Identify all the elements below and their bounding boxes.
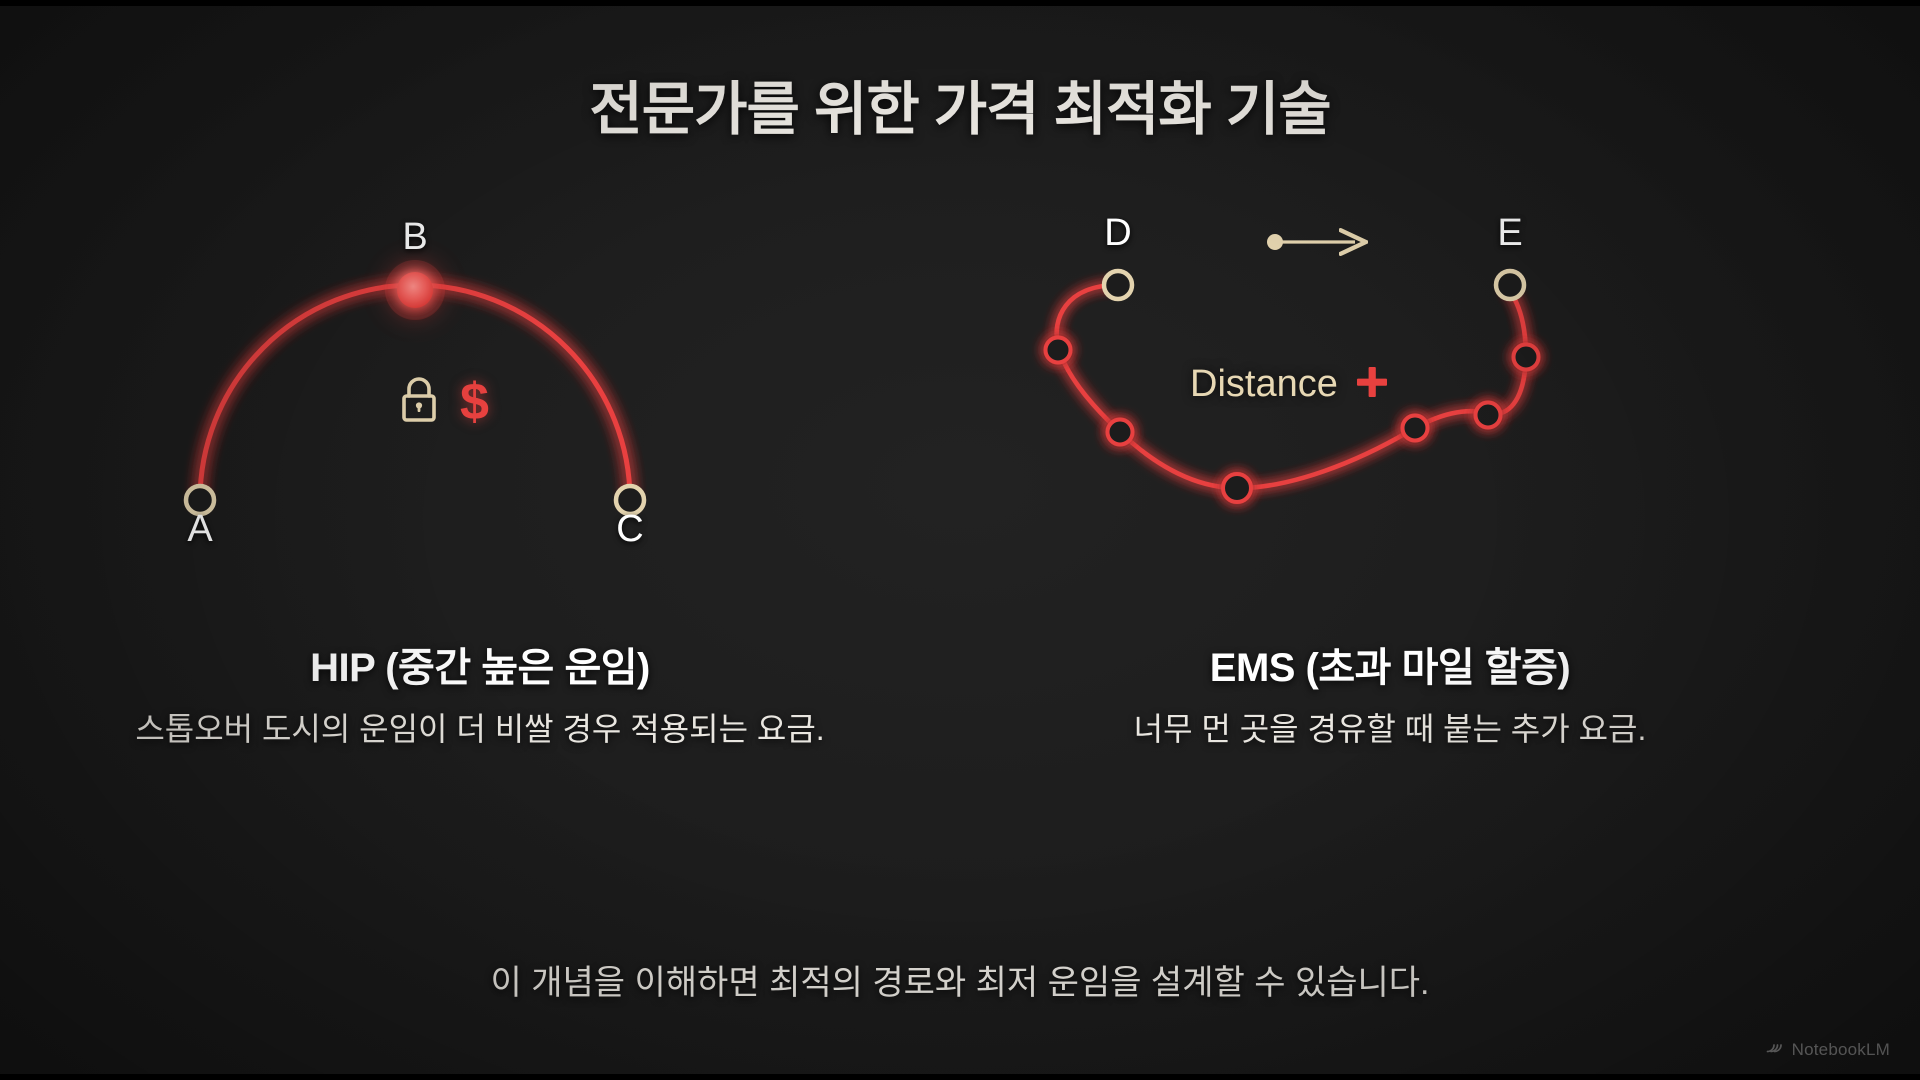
ems-caption: EMS (초과 마일 할증) 너무 먼 곳을 경유할 때 붙는 추가 요금. <box>1010 635 1770 752</box>
lock-icon <box>396 374 442 429</box>
panel-ems: D E Distance EMS (초과 마일 할증) 너무 먼 곳을 경유할 … <box>1010 210 1770 770</box>
hip-node-c-label: C <box>616 508 643 551</box>
panel-hip: A B C $ HIP (중간 높은 운임) 스톱오버 도시의 운임이 더 비쌀… <box>100 210 860 770</box>
ems-distance-group: Distance <box>1190 362 1392 407</box>
notebooklm-watermark-text: NotebookLM <box>1792 1040 1890 1060</box>
notebooklm-watermark: NotebookLM <box>1765 1037 1890 1062</box>
footer-note: 이 개념을 이해하면 최적의 경로와 최저 운임을 설계할 수 있습니다. <box>0 955 1920 1004</box>
page-title: 전문가를 위한 가격 최적화 기술 <box>0 62 1920 146</box>
dollar-icon: $ <box>460 376 489 428</box>
hip-node-a-label: A <box>187 508 212 551</box>
letterbox-top <box>0 0 1920 6</box>
hip-diagram: A B C $ <box>100 210 860 600</box>
hip-node-b[interactable] <box>397 272 433 308</box>
ems-diagram: D E Distance <box>1010 210 1770 600</box>
measure-arrow <box>1267 234 1355 250</box>
ems-waypoint-2[interactable] <box>1108 420 1133 445</box>
ems-waypoint-4[interactable] <box>1403 416 1428 441</box>
ems-node-d-label: D <box>1104 212 1131 255</box>
notebooklm-logo-icon <box>1765 1037 1785 1062</box>
hip-caption-desc: 스톱오버 도시의 운임이 더 비쌀 경우 적용되는 요금. <box>100 707 860 752</box>
ems-node-d[interactable] <box>1104 271 1132 299</box>
distance-label: Distance <box>1190 363 1338 406</box>
hip-caption: HIP (중간 높은 운임) 스톱오버 도시의 운임이 더 비쌀 경우 적용되는… <box>100 635 860 752</box>
hip-node-b-label: B <box>402 216 427 259</box>
ems-waypoint-1[interactable] <box>1046 338 1071 363</box>
ems-caption-title: EMS (초과 마일 할증) <box>1010 635 1770 693</box>
ems-waypoint-6[interactable] <box>1514 345 1539 370</box>
slide-canvas: 전문가를 위한 가격 최적화 기술 <box>0 0 1920 1080</box>
plus-icon <box>1352 362 1392 407</box>
ems-waypoint-5[interactable] <box>1476 403 1501 428</box>
ems-node-e-label: E <box>1497 212 1522 255</box>
hip-icon-group: $ <box>396 374 489 429</box>
hip-caption-title: HIP (중간 높은 운임) <box>100 635 860 693</box>
ems-caption-desc: 너무 먼 곳을 경유할 때 붙는 추가 요금. <box>1010 707 1770 752</box>
letterbox-bottom <box>0 1074 1920 1080</box>
ems-node-e[interactable] <box>1496 271 1524 299</box>
ems-waypoint-3[interactable] <box>1223 474 1251 502</box>
